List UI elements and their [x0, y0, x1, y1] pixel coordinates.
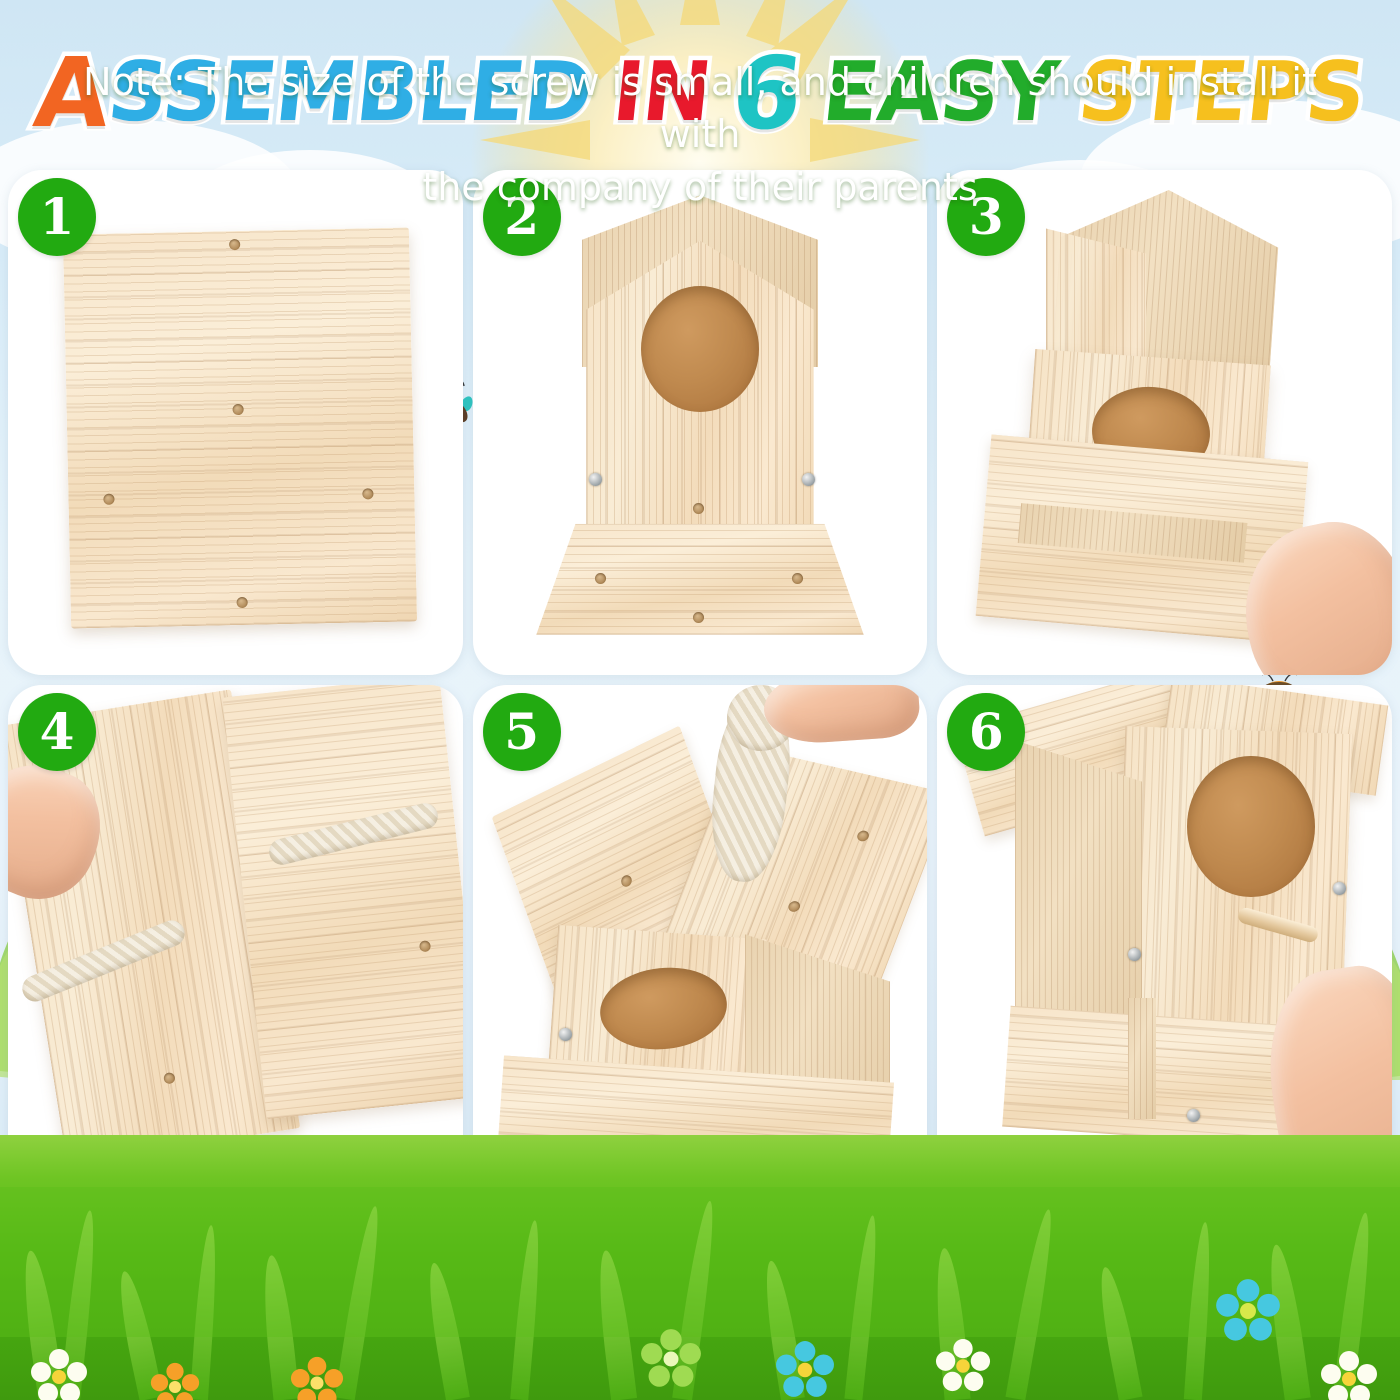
step-panel-6[interactable]: 6 [937, 685, 1392, 1190]
flower-orange-1 [290, 1356, 344, 1400]
note-text: Note: The size of the screw is small, an… [0, 56, 1400, 213]
flower-white-3 [1320, 1350, 1378, 1400]
step-panel-5[interactable]: 5 [473, 685, 928, 1190]
flower-blue-2 [1215, 1278, 1281, 1344]
step-badge-4: 4 [18, 693, 96, 771]
grass-footer [0, 1135, 1400, 1400]
flower-white-1 [30, 1348, 88, 1400]
step-panel-1[interactable]: 1 [8, 170, 463, 675]
flower-blue-1 [775, 1340, 835, 1400]
step-badge-6: 6 [947, 693, 1025, 771]
step-panel-3[interactable]: 3 [937, 170, 1392, 675]
steps-grid: 1 2 [8, 170, 1392, 1190]
step-badge-5: 5 [483, 693, 561, 771]
step-panel-2[interactable]: 2 [473, 170, 928, 675]
step-panel-4[interactable]: 4 [8, 685, 463, 1190]
note-band [0, 1187, 1400, 1337]
flower-orange-2 [150, 1362, 200, 1400]
flower-green-1 [640, 1328, 702, 1390]
flower-white-2 [935, 1338, 991, 1394]
note-line-1: Note: The size of the screw is small, an… [50, 56, 1350, 161]
note-line-2: the company of their parents [50, 161, 1350, 213]
